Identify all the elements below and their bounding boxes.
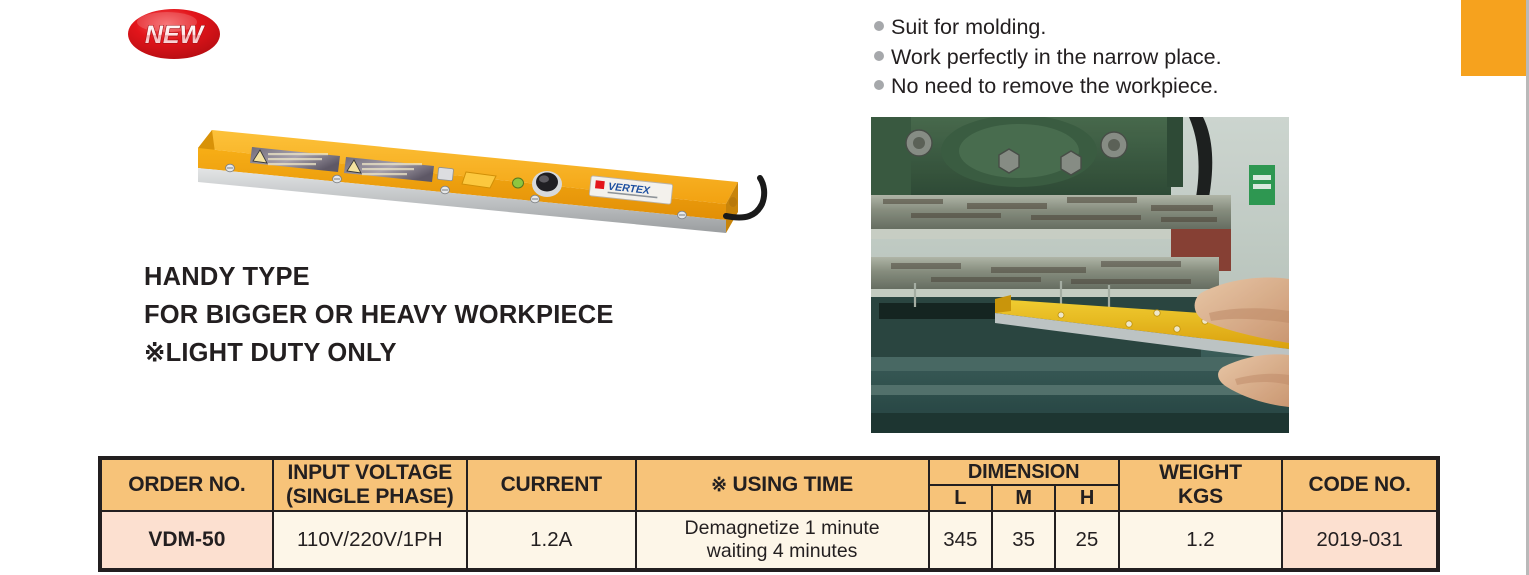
- cell-dimension-h: 25: [1055, 511, 1118, 570]
- cell-dimension-l: 345: [929, 511, 992, 570]
- header-dimension-m: M: [992, 485, 1055, 511]
- page-section-tab[interactable]: [1461, 0, 1529, 76]
- cell-code-no: 2019-031: [1282, 511, 1438, 570]
- bullet-icon: [874, 80, 884, 90]
- table-header: ORDER NO. INPUT VOLTAGE (SINGLE PHASE) C…: [100, 458, 1438, 511]
- cell-using-time-line2: waiting 4 minutes: [637, 540, 928, 563]
- feature-item: No need to remove the workpiece.: [874, 72, 1344, 102]
- cell-order-no: VDM-50: [100, 511, 273, 570]
- header-dimension-l: L: [929, 485, 992, 511]
- heading-line-3: ※LIGHT DUTY ONLY: [144, 334, 784, 372]
- cell-input-voltage: 110V/220V/1PH: [273, 511, 467, 570]
- cell-weight: 1.2: [1119, 511, 1283, 570]
- header-current: CURRENT: [467, 458, 636, 511]
- header-input-voltage-line1: INPUT VOLTAGE: [274, 461, 466, 485]
- header-weight-line1: WEIGHT: [1120, 461, 1282, 485]
- header-input-voltage: INPUT VOLTAGE (SINGLE PHASE): [273, 458, 467, 511]
- header-dimension-h: H: [1055, 485, 1118, 511]
- header-dimension-group: DIMENSION: [929, 458, 1119, 485]
- application-photo: [871, 117, 1289, 433]
- bullet-icon: [874, 21, 884, 31]
- feature-label: No need to remove the workpiece.: [891, 72, 1218, 102]
- feature-label: Work perfectly in the narrow place.: [891, 43, 1222, 73]
- header-weight-line2: KGS: [1120, 485, 1282, 509]
- specification-table: ORDER NO. INPUT VOLTAGE (SINGLE PHASE) C…: [98, 456, 1440, 572]
- feature-item: Suit for molding.: [874, 13, 1344, 43]
- product-photo: VERTEX: [190, 120, 770, 238]
- feature-list: Suit for molding. Work perfectly in the …: [874, 13, 1344, 102]
- bullet-icon: [874, 51, 884, 61]
- header-weight: WEIGHT KGS: [1119, 458, 1283, 511]
- product-headings: HANDY TYPE FOR BIGGER OR HEAVY WORKPIECE…: [144, 258, 784, 372]
- feature-label: Suit for molding.: [891, 13, 1046, 43]
- cell-using-time-line1: Demagnetize 1 minute: [637, 517, 928, 540]
- header-code-no: CODE NO.: [1282, 458, 1438, 511]
- header-using-time-label: USING TIME: [733, 473, 854, 496]
- header-order-no: ORDER NO.: [100, 458, 273, 511]
- cell-dimension-m: 35: [992, 511, 1055, 570]
- header-using-time: ※ USING TIME: [636, 458, 929, 511]
- new-badge: NEW: [127, 7, 222, 61]
- svg-text:NEW: NEW: [145, 21, 206, 49]
- cell-current: 1.2A: [467, 511, 636, 570]
- table-row: VDM-50 110V/220V/1PH 1.2A Demagnetize 1 …: [100, 511, 1438, 570]
- feature-item: Work perfectly in the narrow place.: [874, 43, 1344, 73]
- reference-mark-icon: ※: [711, 475, 727, 496]
- cell-using-time: Demagnetize 1 minute waiting 4 minutes: [636, 511, 929, 570]
- heading-line-1: HANDY TYPE: [144, 258, 784, 296]
- table-body: VDM-50 110V/220V/1PH 1.2A Demagnetize 1 …: [100, 511, 1438, 570]
- heading-line-2: FOR BIGGER OR HEAVY WORKPIECE: [144, 296, 784, 334]
- header-input-voltage-line2: (SINGLE PHASE): [274, 485, 466, 509]
- header-row-1: ORDER NO. INPUT VOLTAGE (SINGLE PHASE) C…: [100, 458, 1438, 485]
